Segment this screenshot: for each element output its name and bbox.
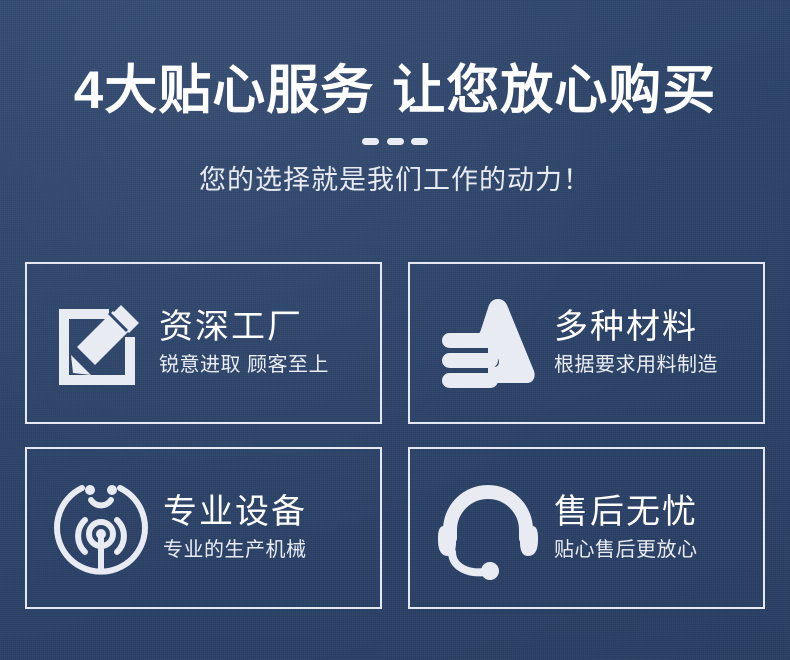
layered-materials-icon <box>432 291 544 395</box>
page-subtitle: 您的选择就是我们工作的动力！ <box>0 145 790 196</box>
service-card-subtitle: 贴心售后更放心 <box>554 533 698 563</box>
service-card-subtitle: 根据要求用料制造 <box>554 348 718 378</box>
service-card-title: 资深工厂 <box>159 308 303 347</box>
page-title: 4大贴心服务让您放心购买 <box>0 0 790 119</box>
service-card-text: 售后无忧 贴心售后更放心 <box>544 493 763 562</box>
divider-dot <box>362 138 379 145</box>
service-card-subtitle: 专业的生产机械 <box>163 533 307 563</box>
divider-dot <box>387 138 404 145</box>
service-card-text: 资深工厂 锐意进取 顾客至上 <box>153 308 380 377</box>
banner-header: 4大贴心服务让您放心购买 您的选择就是我们工作的动力！ <box>0 0 790 197</box>
service-card-title: 售后无忧 <box>554 493 698 532</box>
edit-square-pencil-icon <box>49 291 153 395</box>
promo-banner: 4大贴心服务让您放心购买 您的选择就是我们工作的动力！ <box>0 0 790 660</box>
headline-secondary: 让您放心购买 <box>392 61 716 120</box>
headset-support-icon <box>432 476 544 580</box>
service-card-material[interactable]: 多种材料 根据要求用料制造 <box>408 262 765 424</box>
divider-dot <box>411 138 428 145</box>
headline-primary: 4大贴心服务 <box>74 61 374 120</box>
service-card-text: 专业设备 专业的生产机械 <box>153 493 380 562</box>
service-card-subtitle: 锐意进取 顾客至上 <box>159 348 329 378</box>
service-card-factory[interactable]: 资深工厂 锐意进取 顾客至上 <box>25 262 382 424</box>
broadcast-antenna-icon <box>49 476 153 580</box>
service-card-text: 多种材料 根据要求用料制造 <box>544 308 763 377</box>
service-card-grid: 资深工厂 锐意进取 顾客至上 多种材料 根据要求用料制造 <box>25 262 765 594</box>
service-card-equipment[interactable]: 专业设备 专业的生产机械 <box>25 447 382 609</box>
service-card-title: 多种材料 <box>554 308 698 347</box>
service-card-support[interactable]: 售后无忧 贴心售后更放心 <box>408 447 765 609</box>
dots-divider-icon <box>362 137 428 145</box>
service-card-title: 专业设备 <box>163 493 307 532</box>
